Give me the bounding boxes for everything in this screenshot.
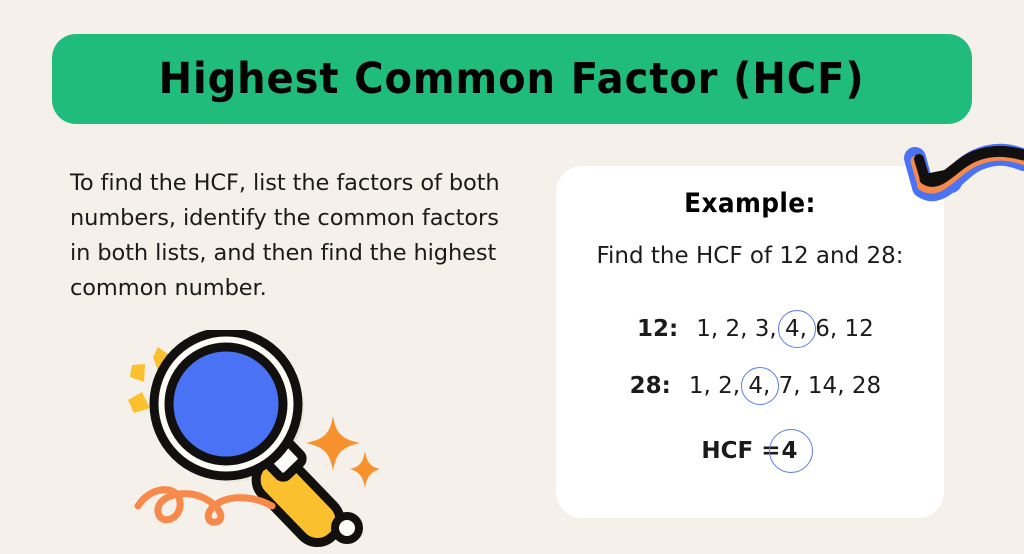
- squiggle-icon: [138, 490, 272, 523]
- hcf-result-label: HCF =: [701, 438, 780, 464]
- common-factor-highlight: 4,: [784, 316, 808, 342]
- factor-row: 12: 1, 2, 3, 4, 6, 12: [556, 316, 944, 342]
- factor-prefix: 1, 2, 3,: [696, 316, 776, 342]
- factor-suffix: 7, 14, 28: [779, 373, 881, 399]
- common-factor-highlight: 4,: [747, 373, 771, 399]
- hcf-result: HCF =4: [556, 438, 944, 464]
- example-prompt: Find the HCF of 12 and 28:: [556, 243, 944, 269]
- example-card: Example: Find the HCF of 12 and 28: 12: …: [556, 166, 944, 518]
- factor-row-values: 1, 2, 4, 7, 14, 28: [689, 373, 881, 399]
- factor-row-label: 12:: [626, 316, 678, 342]
- page-title: Highest Common Factor (HCF): [159, 58, 865, 101]
- title-banner: Highest Common Factor (HCF): [52, 34, 972, 124]
- star-sparkles-icon: [306, 416, 380, 488]
- magnifier-lens: [154, 332, 298, 476]
- factor-suffix: 6, 12: [815, 316, 874, 342]
- curved-arrow-icon: [893, 130, 1024, 206]
- factor-row-label: 28:: [619, 373, 671, 399]
- magnifying-glass-illustration: [128, 330, 380, 554]
- factor-prefix: 1, 2,: [689, 373, 740, 399]
- factor-row-values: 1, 2, 3, 4, 6, 12: [696, 316, 874, 342]
- description-text: To find the HCF, list the factors of bot…: [70, 166, 520, 306]
- hcf-result-value: 4: [781, 438, 799, 464]
- example-heading: Example:: [572, 188, 929, 219]
- factor-row: 28: 1, 2, 4, 7, 14, 28: [556, 373, 944, 399]
